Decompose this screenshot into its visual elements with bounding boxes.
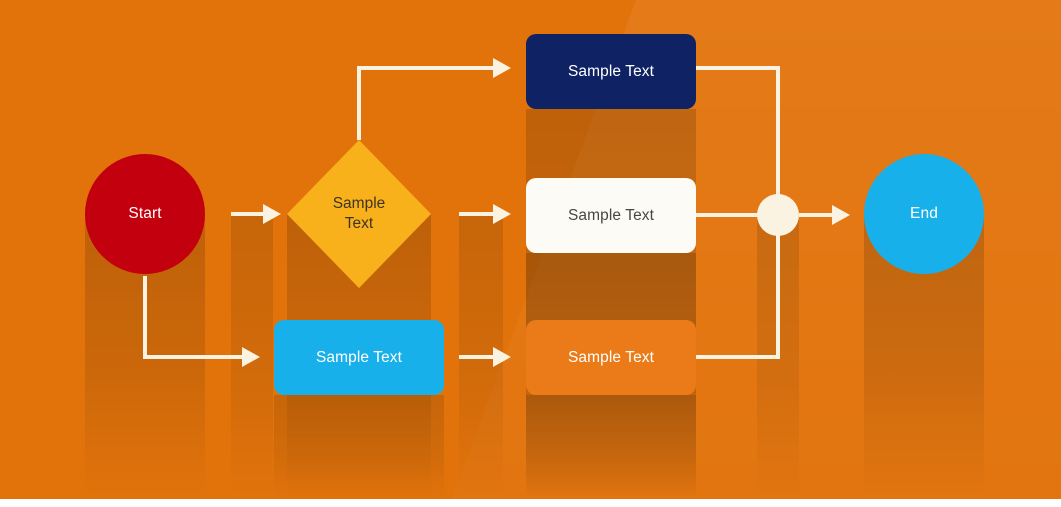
decision-node[interactable]: Sample Text (287, 140, 431, 288)
arrowhead-merge-to-end (832, 205, 850, 225)
end-node-label: End (910, 204, 938, 223)
process-node-top[interactable]: Sample Text (526, 34, 696, 109)
arrowhead-start-to-lower-left (242, 347, 260, 367)
process-node-bottom-label: Sample Text (568, 348, 654, 367)
arrowhead-decision-to-process-middle (493, 204, 511, 224)
start-node-label: Start (128, 204, 161, 223)
decision-node-label: Sample Text (287, 140, 431, 288)
process-node-lower-left[interactable]: Sample Text (274, 320, 444, 395)
arrowhead-start-to-decision (263, 204, 281, 224)
process-node-lower-left-label: Sample Text (316, 348, 402, 367)
end-node[interactable]: End (864, 154, 984, 274)
connector-start-to-lower-left (145, 276, 242, 357)
process-node-bottom[interactable]: Sample Text (526, 320, 696, 395)
process-node-middle[interactable]: Sample Text (526, 178, 696, 253)
start-node[interactable]: Start (85, 154, 205, 274)
merge-junction-node[interactable] (757, 194, 799, 236)
bottom-white-strip (0, 499, 1061, 507)
connector-decision-to-process-top (359, 68, 493, 140)
process-node-middle-label: Sample Text (568, 206, 654, 225)
process-node-top-label: Sample Text (568, 62, 654, 81)
connector-process-top-to-merge (696, 68, 778, 215)
connector-process-bottom-to-merge (696, 215, 778, 357)
flowchart-canvas: Start Sample Text Sample Text Sample Tex… (0, 0, 1061, 507)
arrowhead-lower-left-to-process-bottom (493, 347, 511, 367)
arrowhead-decision-to-process-top (493, 58, 511, 78)
